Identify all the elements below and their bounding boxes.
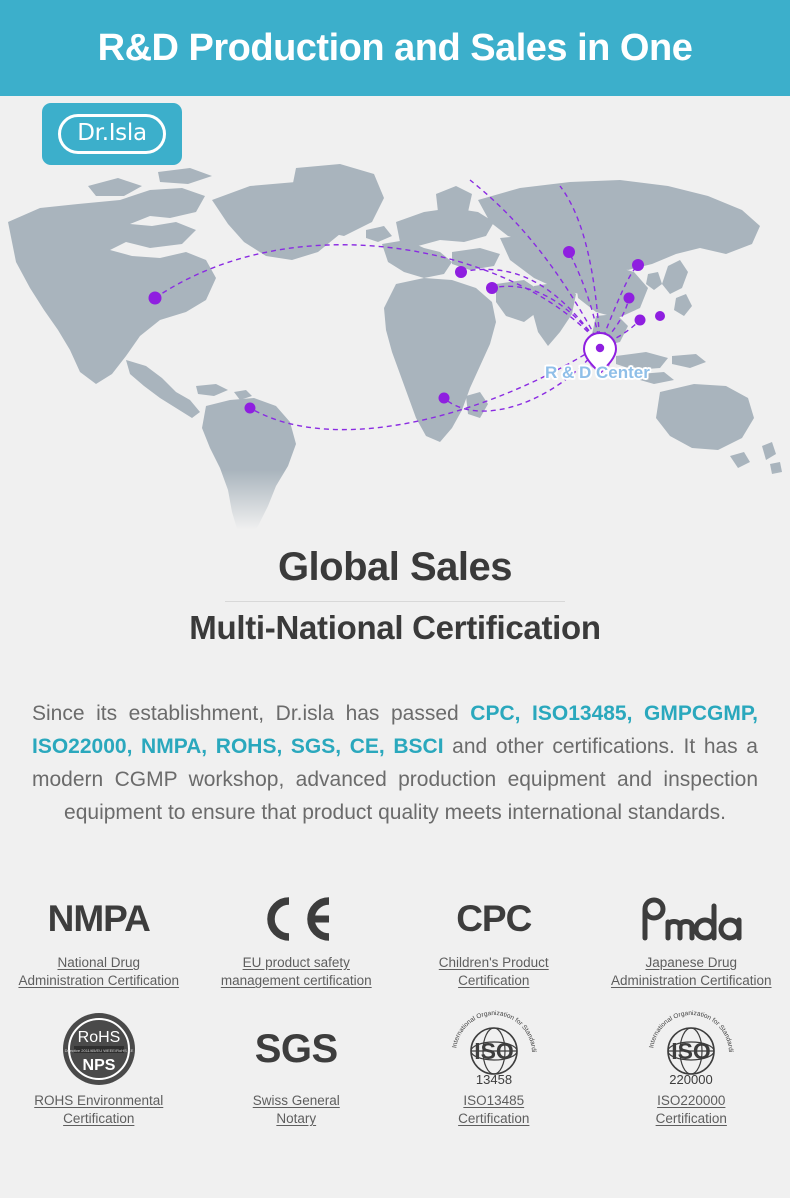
rd-center-label: R & D Center <box>545 363 650 383</box>
cert-caption-line2: Certification <box>63 1110 134 1128</box>
cert-caption-line1: EU product safety <box>243 954 350 972</box>
cert-caption-line2: Certification <box>458 972 529 990</box>
cert-caption: EU product safety management certificati… <box>221 954 372 990</box>
pmda-logo-icon <box>635 888 747 950</box>
cert-item-cpc: CPC Children's Product Certification <box>395 888 593 990</box>
cert-caption: Children's Product Certification <box>439 954 549 990</box>
world-map-svg <box>0 160 790 540</box>
sgs-wordmark: SGS <box>255 1008 338 1090</box>
cert-item-iso13485: International Organization for Standardi… <box>395 1008 593 1128</box>
cert-item-pmda: Japanese Drug Administration Certificati… <box>593 888 790 990</box>
ce-mark-svg <box>259 897 333 941</box>
cert-caption: ISO13485 Certification <box>458 1092 529 1128</box>
rohs-seal-icon: RoHS Directive 2011/65/EU WEEE/RoHS CE N… <box>61 1008 137 1090</box>
cert-caption-line1: ROHS Environmental <box>34 1092 163 1110</box>
svg-text:Directive 2011/65/EU WEEE/RoH: Directive 2011/65/EU WEEE/RoHS CE <box>64 1048 133 1053</box>
world-map <box>0 160 790 540</box>
cert-caption: Japanese Drug Administration Certificati… <box>611 954 772 990</box>
cert-caption-line1: Swiss General <box>253 1092 340 1110</box>
iso-13485-seal-svg: International Organization for Standardi… <box>444 1009 544 1089</box>
certification-row: NMPA National Drug Administration Certif… <box>0 888 790 990</box>
page-title: R&D Production and Sales in One <box>98 27 693 70</box>
cert-caption-line2: Administration Certification <box>18 972 179 990</box>
heading-divider <box>225 601 565 602</box>
svg-text:ISO: ISO <box>474 1038 514 1064</box>
iso-220000-seal-icon: International Organization for Standardi… <box>641 1008 741 1090</box>
nmpa-wordmark-text: NMPA <box>48 898 150 940</box>
cert-caption-line1: ISO220000 <box>657 1092 725 1110</box>
cert-item-sgs: SGS Swiss General Notary <box>198 1008 396 1128</box>
iso-220000-seal-svg: International Organization for Standardi… <box>641 1009 741 1089</box>
cpc-wordmark-text: CPC <box>456 898 531 940</box>
rohs-seal-svg: RoHS Directive 2011/65/EU WEEE/RoHS CE N… <box>61 1011 137 1087</box>
cert-caption-line1: Children's Product <box>439 954 549 972</box>
certification-grid: NMPA National Drug Administration Certif… <box>0 888 790 1128</box>
header-banner: R&D Production and Sales in One <box>0 0 790 96</box>
cert-caption-line1: ISO13485 <box>463 1092 524 1110</box>
certification-row: RoHS Directive 2011/65/EU WEEE/RoHS CE N… <box>0 1008 790 1128</box>
ce-mark-icon <box>259 888 333 950</box>
cert-caption-line2: Certification <box>458 1110 529 1128</box>
cert-caption: Swiss General Notary <box>253 1092 340 1128</box>
sgs-wordmark-text: SGS <box>255 1027 338 1072</box>
cert-caption-line2: management certification <box>221 972 372 990</box>
cert-caption-line2: Notary <box>276 1110 316 1128</box>
pmda-logo-svg <box>635 896 747 942</box>
description-paragraph: Since its establishment, Dr.isla has pas… <box>32 697 758 829</box>
cert-caption: ISO220000 Certification <box>656 1092 727 1128</box>
cert-item-rohs: RoHS Directive 2011/65/EU WEEE/RoHS CE N… <box>0 1008 198 1128</box>
svg-text:RoHS: RoHS <box>77 1029 120 1046</box>
description-lead: Since its establishment, Dr.isla has pas… <box>32 702 470 725</box>
cert-caption-line1: National Drug <box>57 954 140 972</box>
iso-number-220000: 220000 <box>670 1072 713 1087</box>
cert-caption-line1: Japanese Drug <box>645 954 737 972</box>
cert-caption-line2: Administration Certification <box>611 972 772 990</box>
cert-caption: ROHS Environmental Certification <box>34 1092 163 1128</box>
map-landmasses <box>8 164 782 538</box>
cert-caption-line2: Certification <box>656 1110 727 1128</box>
global-sales-heading: Global Sales <box>0 545 790 590</box>
brand-logo: Dr.Isla <box>42 103 182 165</box>
iso-number-13485: 13458 <box>476 1072 512 1087</box>
cert-item-nmpa: NMPA National Drug Administration Certif… <box>0 888 198 990</box>
iso-13485-seal-icon: International Organization for Standardi… <box>444 1008 544 1090</box>
promo-page: R&D Production and Sales in One Dr.Isla <box>0 0 790 1198</box>
cert-item-ce: EU product safety management certificati… <box>198 888 396 990</box>
brand-logo-text: Dr.Isla <box>58 114 166 154</box>
nmpa-wordmark: NMPA <box>48 888 150 950</box>
cpc-wordmark: CPC <box>456 888 531 950</box>
svg-text:ISO: ISO <box>671 1038 711 1064</box>
svg-text:NPS: NPS <box>82 1057 115 1074</box>
cert-item-iso220000: International Organization for Standardi… <box>593 1008 790 1128</box>
multi-national-heading: Multi-National Certification <box>0 609 790 647</box>
cert-caption: National Drug Administration Certificati… <box>18 954 179 990</box>
